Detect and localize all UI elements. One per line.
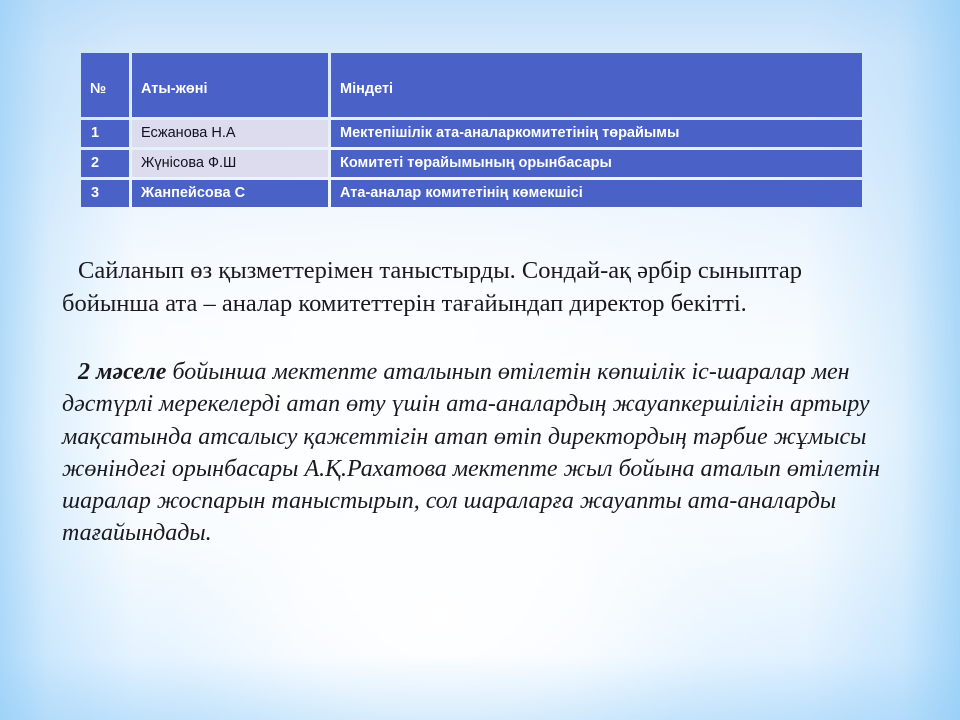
table-header-row: № Аты-жөні Міндеті [81, 53, 862, 117]
row-duty-cell: Мектепішілік ата-аналаркомитетінің төрай… [331, 120, 862, 147]
row-number-cell: 2 [81, 150, 129, 177]
column-header-name: Аты-жөні [132, 53, 328, 117]
body-paragraph-first: Сайланып өз қызметтерімен таныстырды. Со… [62, 255, 892, 321]
row-duty-value: Ата-аналар комитетінің көмекшісі [331, 182, 862, 205]
row-name-cell: Жанпейсова С [132, 180, 328, 207]
row-duty-value: Мектепішілік ата-аналаркомитетінің төрай… [331, 122, 862, 145]
row-number-cell: 3 [81, 180, 129, 207]
column-header-number: № [81, 53, 129, 117]
table-row: 2 Жүнісова Ф.Ш Комитеті төрайымының орын… [81, 150, 862, 177]
row-name-cell: Есжанова Н.А [132, 120, 328, 147]
row-name-value: Жүнісова Ф.Ш [132, 152, 328, 175]
row-duty-value: Комитеті төрайымының орынбасары [331, 152, 862, 175]
row-duty-cell: Ата-аналар комитетінің көмекшісі [331, 180, 862, 207]
row-name-cell: Жүнісова Ф.Ш [132, 150, 328, 177]
row-number-cell: 1 [81, 120, 129, 147]
body-paragraph-second: 2 мәселе бойынша мектепте аталынып өтіле… [62, 356, 892, 550]
slide-canvas: № Аты-жөні Міндеті 1 Есжанова Н.А Ме [0, 0, 960, 720]
row-number-value: 3 [81, 182, 129, 205]
body-paragraph-second-lead: 2 мәселе [78, 359, 166, 385]
parents-committee-table: № Аты-жөні Міндеті 1 Есжанова Н.А Ме [78, 50, 865, 210]
column-header-duty-label: Міндеті [331, 72, 862, 98]
row-number-value: 2 [81, 152, 129, 175]
table-row: 1 Есжанова Н.А Мектепішілік ата-аналарко… [81, 120, 862, 147]
row-name-value: Есжанова Н.А [132, 122, 328, 145]
row-number-value: 1 [81, 122, 129, 145]
table-row: 3 Жанпейсова С Ата-аналар комитетінің кө… [81, 180, 862, 207]
column-header-name-label: Аты-жөні [132, 72, 328, 98]
column-header-duty: Міндеті [331, 53, 862, 117]
row-name-value: Жанпейсова С [132, 182, 328, 205]
row-duty-cell: Комитеті төрайымының орынбасары [331, 150, 862, 177]
column-header-number-label: № [81, 72, 129, 98]
body-paragraph-second-rest: бойынша мектепте аталынып өтілетін көпші… [62, 359, 880, 546]
